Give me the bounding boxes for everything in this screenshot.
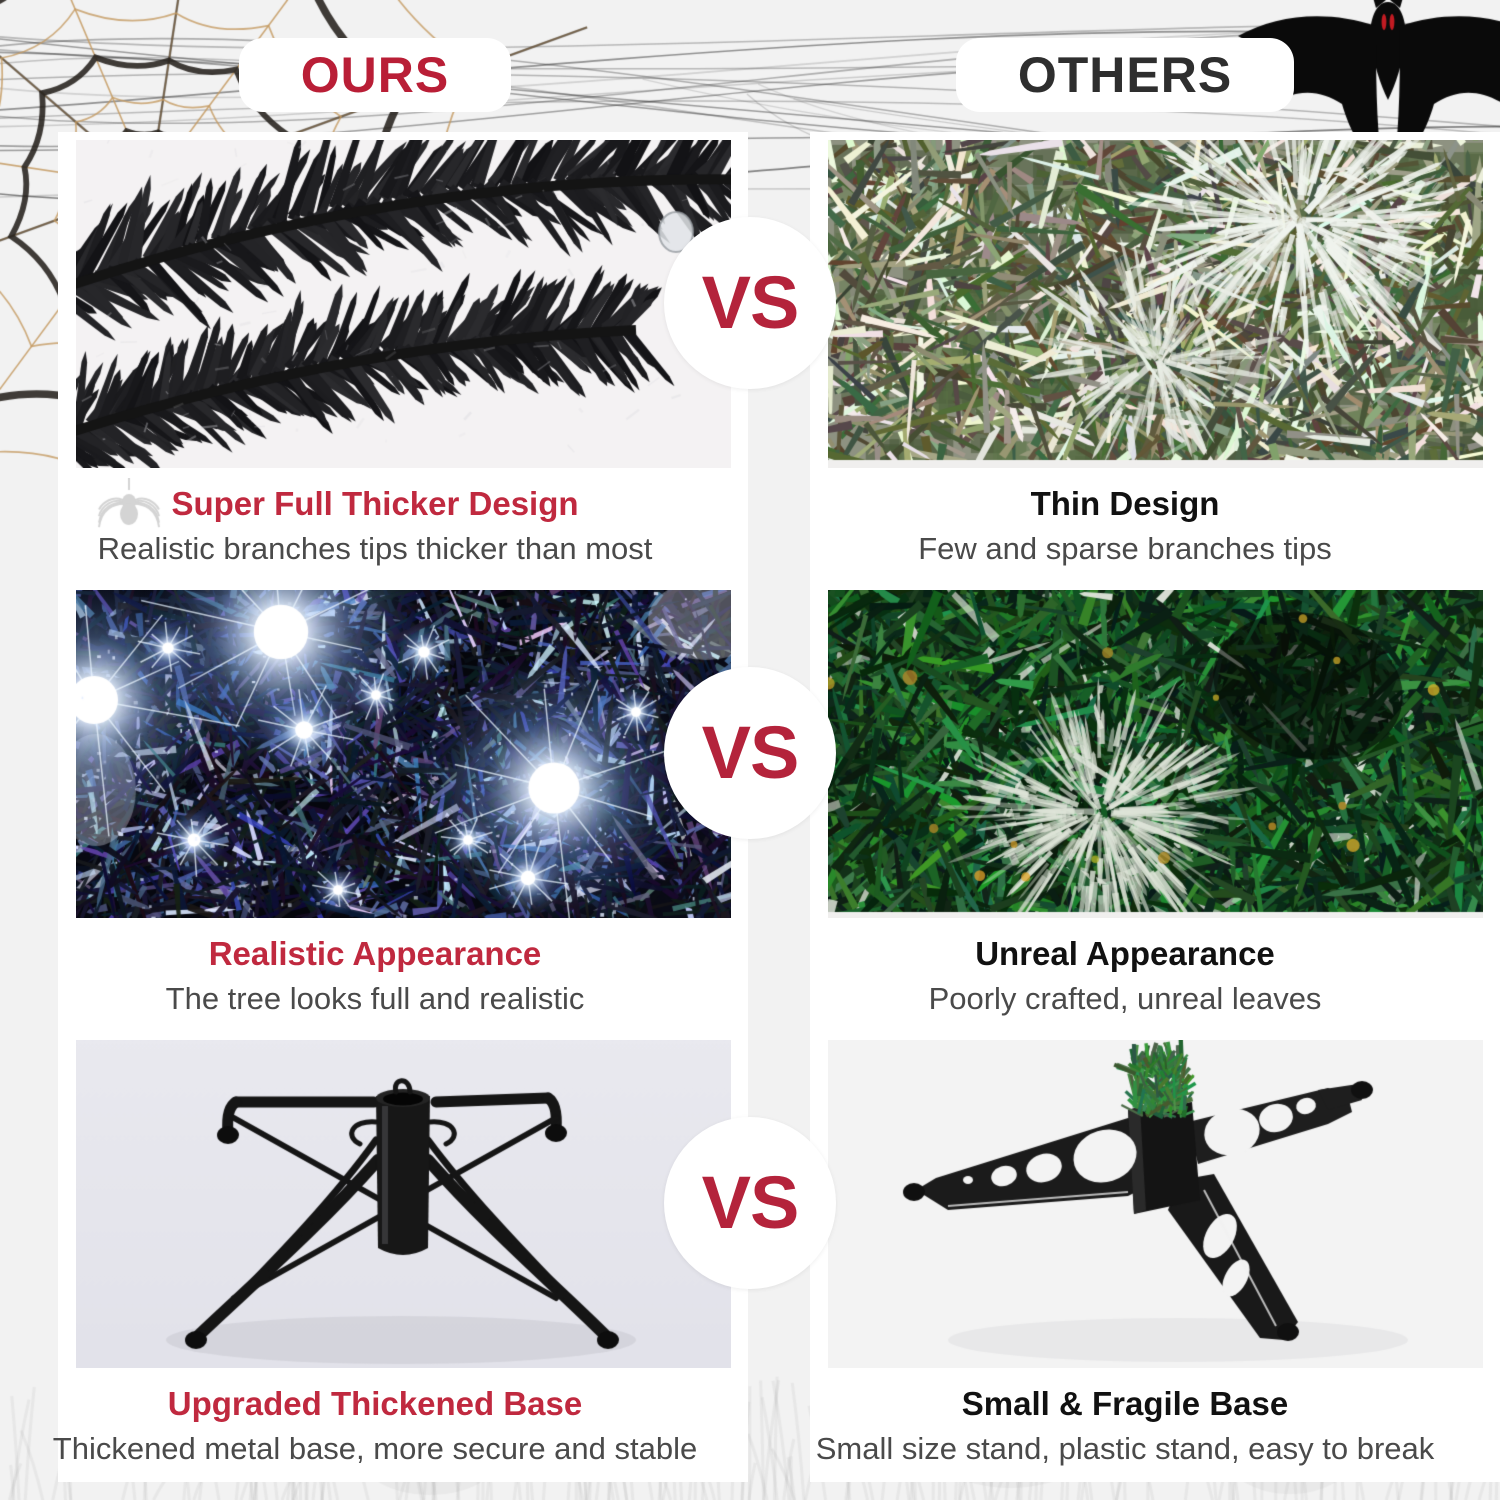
caption-others-row-2: Unreal Appearance Poorly crafted, unreal… — [750, 920, 1500, 1032]
ours-header-label: OURS — [301, 47, 449, 103]
ours-header-pill: OURS — [239, 38, 511, 112]
caption-subtitle: Thickened metal base, more secure and st… — [53, 1432, 697, 1466]
caption-band-row-3: Upgraded Thickened Base Thickened metal … — [0, 1370, 1500, 1482]
vs-badge-row-1: VS — [664, 217, 836, 389]
caption-subtitle: Poorly crafted, unreal leaves — [929, 982, 1322, 1016]
header-cell-others: OTHERS — [750, 36, 1500, 114]
caption-ours-row-1: Super Full Thicker Design Realistic bran… — [0, 470, 750, 582]
vs-badge-row-2: VS — [664, 667, 836, 839]
caption-ours-row-2: Realistic Appearance The tree looks full… — [0, 920, 750, 1032]
photo-ours-row-1 — [76, 140, 731, 468]
vs-badge-row-3: VS — [664, 1117, 836, 1289]
comparison-infographic: OURS OTHERS Supe — [0, 0, 1500, 1500]
caption-others-row-1: Thin Design Few and sparse branches tips — [750, 470, 1500, 582]
photo-ours-row-2 — [76, 590, 731, 918]
caption-title: Unreal Appearance — [975, 936, 1275, 972]
vs-label: VS — [702, 1166, 799, 1240]
caption-subtitle: Few and sparse branches tips — [918, 532, 1332, 566]
caption-subtitle: Realistic branches tips thicker than mos… — [98, 532, 653, 566]
photo-others-row-2 — [828, 590, 1483, 918]
caption-others-row-3: Small & Fragile Base Small size stand, p… — [750, 1370, 1500, 1482]
others-header-label: OTHERS — [1018, 47, 1232, 103]
caption-title: Super Full Thicker Design — [171, 486, 578, 522]
caption-title: Thin Design — [1031, 486, 1220, 522]
photo-others-row-1 — [828, 140, 1483, 468]
caption-title: Realistic Appearance — [209, 936, 542, 972]
column-headers: OURS OTHERS — [0, 36, 1500, 114]
caption-ours-row-3: Upgraded Thickened Base Thickened metal … — [0, 1370, 750, 1482]
photo-others-row-3 — [828, 1040, 1483, 1368]
header-cell-ours: OURS — [0, 36, 750, 114]
caption-subtitle: Small size stand, plastic stand, easy to… — [816, 1432, 1435, 1466]
caption-title: Small & Fragile Base — [962, 1386, 1288, 1422]
others-header-pill: OTHERS — [956, 38, 1294, 112]
vs-label: VS — [702, 266, 799, 340]
photo-ours-row-3 — [76, 1040, 731, 1368]
caption-title: Upgraded Thickened Base — [168, 1386, 582, 1422]
caption-subtitle: The tree looks full and realistic — [166, 982, 585, 1016]
caption-band-row-2: Realistic Appearance The tree looks full… — [0, 920, 1500, 1032]
caption-band-row-1: Super Full Thicker Design Realistic bran… — [0, 470, 1500, 582]
vs-label: VS — [702, 716, 799, 790]
